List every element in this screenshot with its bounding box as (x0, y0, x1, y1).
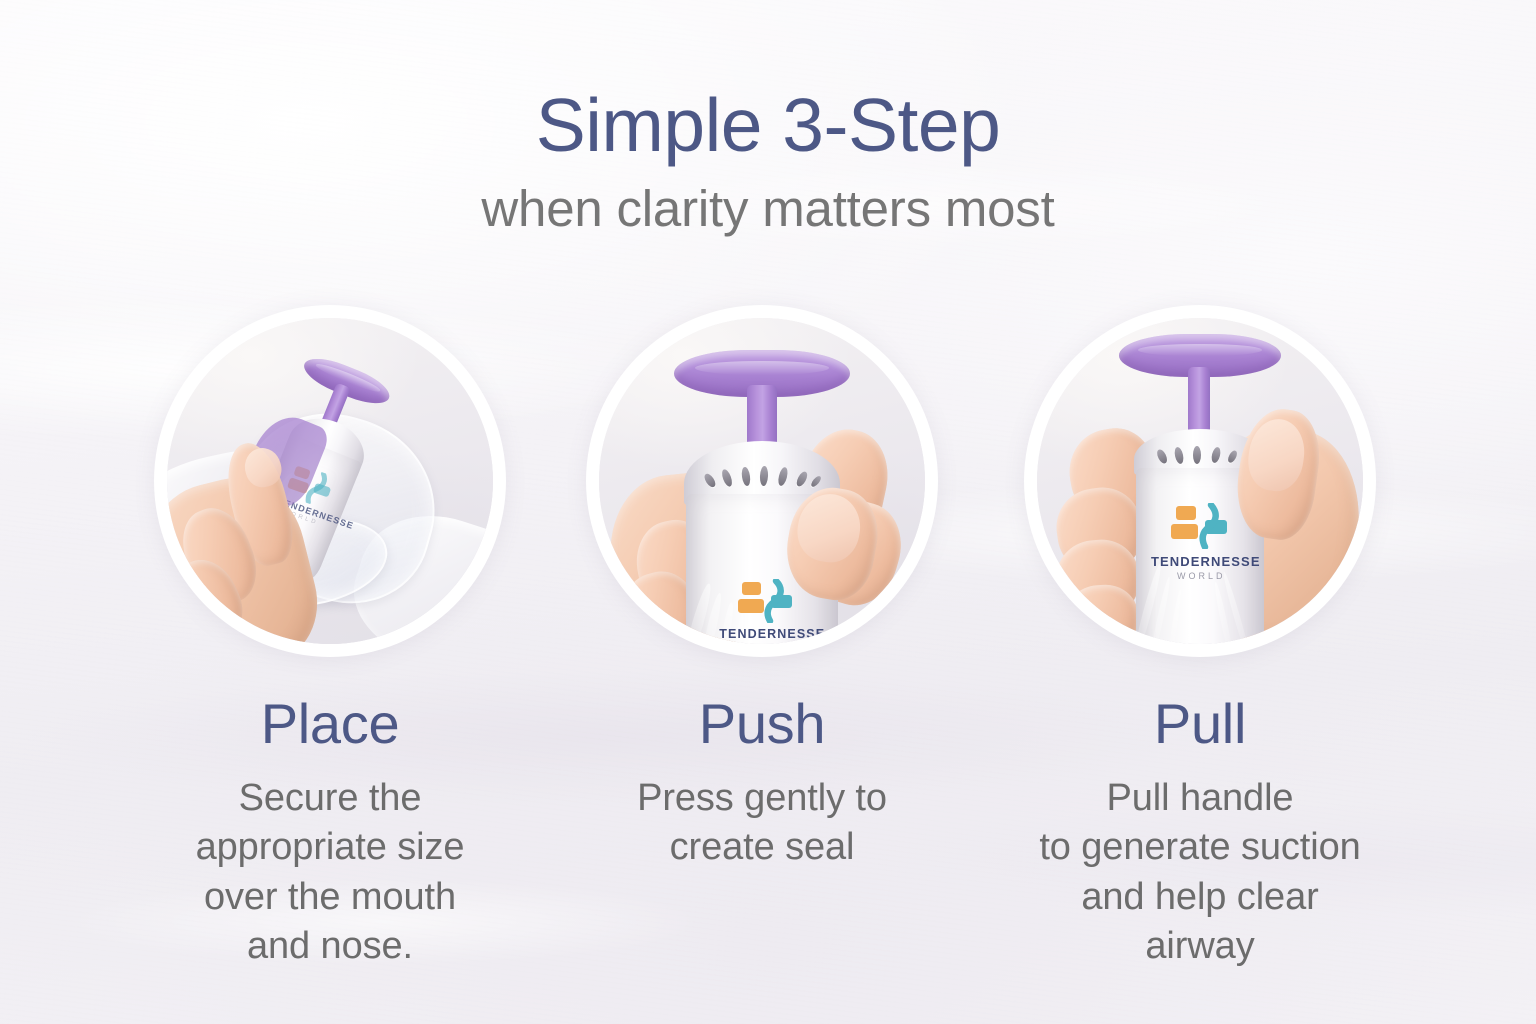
vent-slot (760, 466, 769, 486)
hand-pulling-device-handle-up-image: TENDERNESSE WORLD (1037, 318, 1363, 644)
logo-teal-swoosh-icon (758, 579, 784, 623)
step-push-photo-frame: TENDERNESSE WORLD (586, 305, 938, 657)
logo-primary-text: TENDERNESSE (719, 627, 814, 641)
device-logo: TENDERNESSE WORLD (719, 579, 814, 644)
step-push-description: Press gently to create seal (546, 774, 978, 873)
vent-slot (740, 466, 750, 486)
device-logo: TENDERNESSE WORLD (1151, 503, 1252, 581)
vent-slot (1173, 446, 1184, 464)
step-place: TENDERNESSE WORLD (114, 305, 546, 971)
logo-teal-swoosh-icon (1192, 503, 1219, 549)
step-pull-label: Pull (984, 695, 1416, 754)
infographic-page: Simple 3-Step when clarity matters most (0, 0, 1536, 1024)
step-place-photo-frame: TENDERNESSE WORLD (154, 305, 506, 657)
step-pull-description: Pull handle to generate suction and help… (984, 774, 1416, 972)
page-title: Simple 3-Step (0, 86, 1536, 165)
step-push: TENDERNESSE WORLD Push Press gently to c… (546, 305, 978, 873)
step-push-label: Push (546, 695, 978, 754)
step-place-label: Place (114, 695, 546, 754)
vent-slot (1193, 446, 1201, 464)
hand-shape (167, 318, 493, 644)
vent-slot (810, 474, 823, 488)
hand-pushing-device-handle-down-image: TENDERNESSE WORLD (599, 318, 925, 644)
logo-primary-text: TENDERNESSE (1151, 554, 1252, 569)
vent-slot (777, 467, 789, 487)
vent-slot (1155, 448, 1169, 465)
hand-placing-mask-over-face-image: TENDERNESSE WORLD (167, 318, 493, 644)
logo-secondary-text: WORLD (719, 643, 814, 644)
vent-slot (720, 468, 733, 487)
vent-slot (1226, 450, 1238, 465)
vent-slot (702, 472, 717, 489)
logo-mark (1171, 503, 1231, 549)
page-subtitle: when clarity matters most (0, 181, 1536, 237)
steps-row: TENDERNESSE WORLD (0, 305, 1536, 971)
vent-slot (795, 470, 809, 488)
vent-slot (1210, 447, 1222, 465)
logo-secondary-text: WORLD (1151, 571, 1252, 581)
logo-mark (738, 579, 796, 623)
header-block: Simple 3-Step when clarity matters most (0, 86, 1536, 237)
step-place-description: Secure the appropriate size over the mou… (114, 774, 546, 972)
step-pull-photo-frame: TENDERNESSE WORLD (1024, 305, 1376, 657)
step-pull: TENDERNESSE WORLD Pull Pull handle to ge… (984, 305, 1416, 971)
